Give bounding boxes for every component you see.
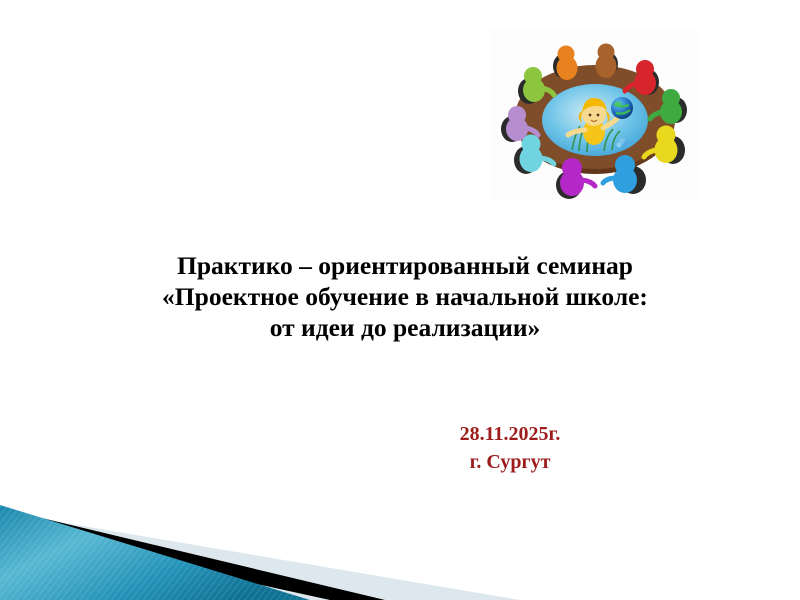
- event-city: г. Сургут: [330, 448, 690, 476]
- black-ribbon: [0, 508, 385, 600]
- teal-ribbon-texture: [0, 505, 310, 600]
- bottom-left-corner-ribbons: [0, 490, 520, 600]
- title-line-2: «Проектное обучение в начальной школе:: [60, 281, 750, 312]
- title-line-3: от идеи до реализации»: [60, 312, 750, 343]
- pale-ribbon: [0, 512, 520, 600]
- slide-title: Практико – ориентированный семинар «Прое…: [60, 250, 750, 343]
- round-table-meeting-illustration: [490, 28, 700, 201]
- event-date: 28.11.2025г.: [330, 420, 690, 448]
- corner-ribbon-graphic: [0, 490, 520, 600]
- teal-ribbon: [0, 505, 310, 600]
- illustration-graphic: [490, 28, 700, 201]
- slide-meta: 28.11.2025г. г. Сургут: [330, 420, 690, 476]
- title-line-1: Практико – ориентированный семинар: [60, 250, 750, 281]
- presentation-slide: Практико – ориентированный семинар «Прое…: [0, 0, 800, 600]
